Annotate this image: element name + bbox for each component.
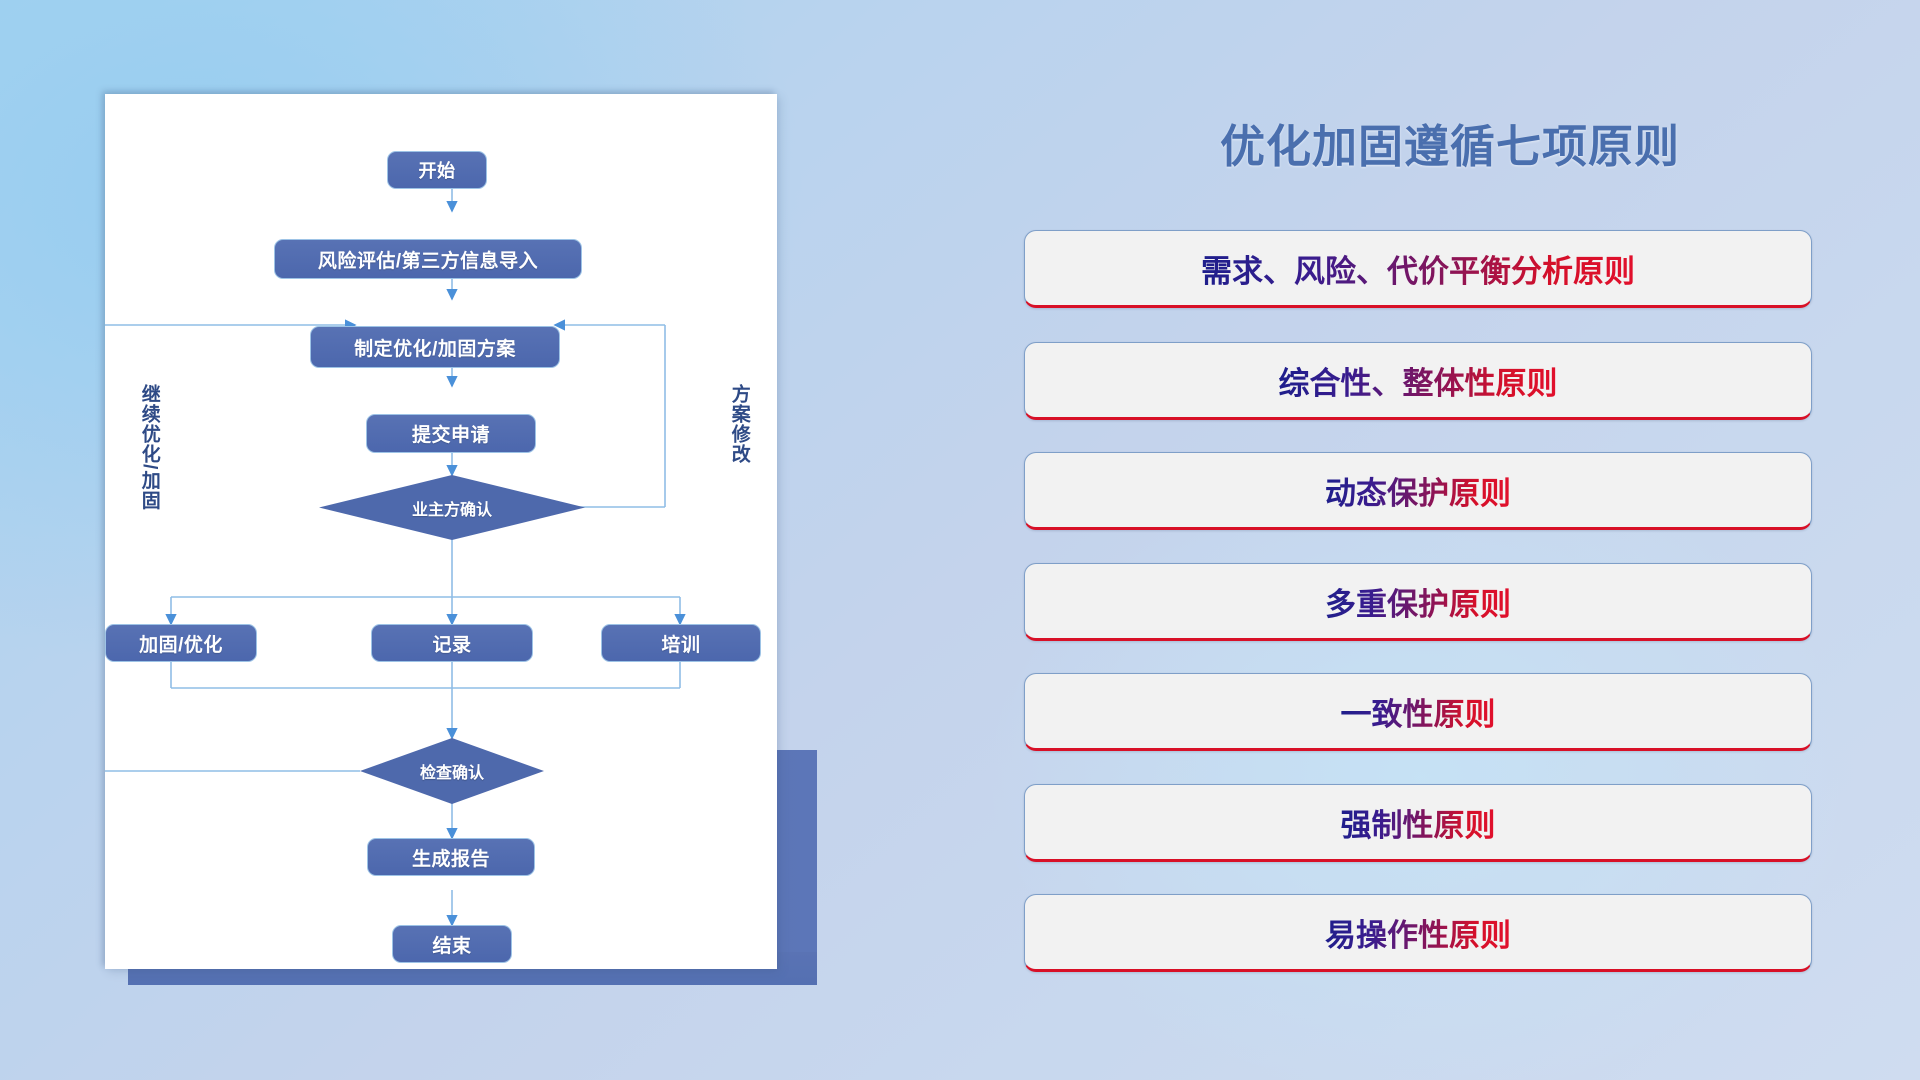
principle-card-2[interactable]: 综合性、整体性原则 <box>1024 342 1812 420</box>
flow-node-record[interactable]: 记录 <box>371 624 533 662</box>
principle-card-7-label: 易操作性原则 <box>1325 910 1511 955</box>
flow-node-make-plan-label: 制定优化/加固方案 <box>354 334 516 361</box>
flow-node-end[interactable]: 结束 <box>392 925 512 963</box>
flow-node-reinforce[interactable]: 加固/优化 <box>105 624 257 662</box>
flow-node-training[interactable]: 培训 <box>601 624 761 662</box>
page-title: 优化加固遵循七项原则 <box>1020 110 1880 175</box>
flow-decision-check-confirm-label: 检查确认 <box>420 759 484 783</box>
principle-card-7[interactable]: 易操作性原则 <box>1024 894 1812 972</box>
flow-node-make-plan[interactable]: 制定优化/加固方案 <box>310 326 560 368</box>
principle-card-2-label: 综合性、整体性原则 <box>1279 358 1558 403</box>
flow-node-risk-assessment-label: 风险评估/第三方信息导入 <box>318 246 538 273</box>
flow-node-start[interactable]: 开始 <box>387 151 487 189</box>
principles-panel: 优化加固遵循七项原则 需求、风险、代价平衡分析原则 综合性、整体性原则 动态保护… <box>1020 0 1880 1080</box>
flow-node-start-label: 开始 <box>419 157 456 183</box>
flow-node-risk-assessment[interactable]: 风险评估/第三方信息导入 <box>274 239 582 279</box>
flow-edge-label-continue-optimize: 继续优化/加固 <box>139 384 159 510</box>
flowchart: 开始 风险评估/第三方信息导入 制定优化/加固方案 提交申请 业主方确认 加固/… <box>105 94 777 969</box>
flow-node-submit-application-label: 提交申请 <box>412 420 490 447</box>
flow-node-reinforce-label: 加固/优化 <box>139 630 223 657</box>
principle-card-5[interactable]: 一致性原则 <box>1024 673 1812 751</box>
principle-card-1[interactable]: 需求、风险、代价平衡分析原则 <box>1024 230 1812 308</box>
flow-node-end-label: 结束 <box>432 931 471 958</box>
principle-card-6-label: 强制性原则 <box>1341 800 1496 845</box>
flow-node-record-label: 记录 <box>432 630 471 657</box>
flow-edge-label-plan-revision: 方案修改 <box>729 384 749 464</box>
principle-card-1-label: 需求、风险、代价平衡分析原则 <box>1201 246 1635 291</box>
principle-card-4[interactable]: 多重保护原则 <box>1024 563 1812 641</box>
flow-node-training-label: 培训 <box>661 630 700 657</box>
principle-card-5-label: 一致性原则 <box>1341 689 1496 734</box>
flow-decision-check-confirm[interactable]: 检查确认 <box>360 738 544 804</box>
principle-card-4-label: 多重保护原则 <box>1325 579 1511 624</box>
flow-node-generate-report[interactable]: 生成报告 <box>367 838 535 876</box>
flow-node-submit-application[interactable]: 提交申请 <box>366 414 536 453</box>
flow-node-generate-report-label: 生成报告 <box>412 844 490 871</box>
flow-decision-owner-confirm-label: 业主方确认 <box>412 496 492 520</box>
flow-decision-owner-confirm[interactable]: 业主方确认 <box>319 475 585 540</box>
principle-card-3-label: 动态保护原则 <box>1325 468 1511 513</box>
slide-background: 开始 风险评估/第三方信息导入 制定优化/加固方案 提交申请 业主方确认 加固/… <box>0 0 1920 1080</box>
principle-card-6[interactable]: 强制性原则 <box>1024 784 1812 862</box>
principle-card-3[interactable]: 动态保护原则 <box>1024 452 1812 530</box>
